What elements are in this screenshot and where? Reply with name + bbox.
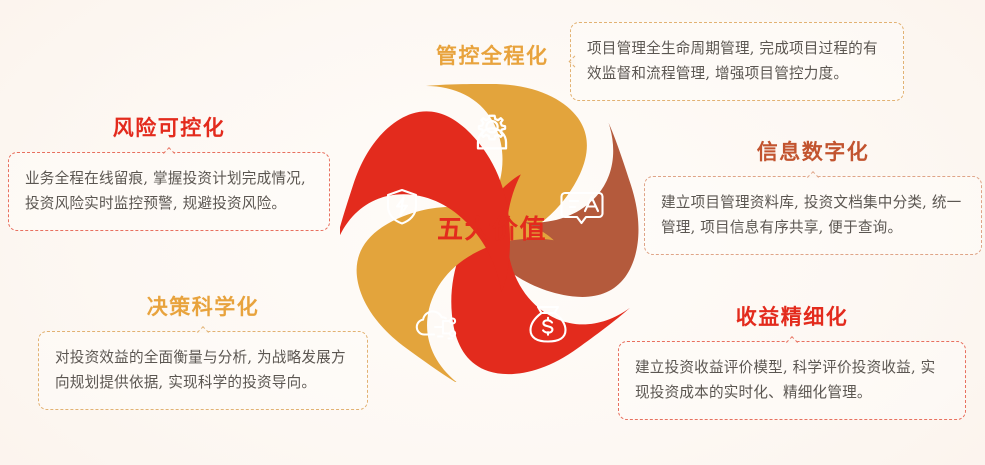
section-xinxi-bubble: 建立项目管理资料库, 投资文档集中分类, 统一管理, 项目信息有序共享, 便于查… (644, 176, 982, 255)
section-fengxian: 风险可控化 业务全程在线留痕, 掌握投资计划完成情况, 投资风险实时监控预警, … (8, 118, 330, 231)
bubble-notch (194, 324, 212, 333)
center-label: 五大价值 (437, 215, 547, 245)
section-shouyi-bubble: 建立投资收益评价模型, 科学评价投资收益, 实现投资成本的实时化、精细化管理。 (618, 341, 966, 420)
five-values-pinwheel: 五大价值 (340, 78, 644, 382)
bubble-notch (783, 334, 801, 343)
section-guankong: 管控全程化 项目管理全生命周期管理, 完成项目过程的有效监督和流程管理, 增强项… (434, 46, 904, 67)
section-xinxi-body: 建立项目管理资料库, 投资文档集中分类, 统一管理, 项目信息有序共享, 便于查… (661, 190, 965, 240)
section-shouyi: 收益精细化 建立投资收益评价模型, 科学评价投资收益, 实现投资成本的实时化、精… (618, 307, 966, 420)
section-juece-bubble: 对投资效益的全面衡量与分析, 为战略发展方向规划提供依据, 实现科学的投资导向。 (38, 331, 368, 410)
section-juece-title: 决策科学化 (38, 297, 368, 318)
section-fengxian-title: 风险可控化 (8, 118, 330, 139)
section-juece-body: 对投资效益的全面衡量与分析, 为战略发展方向规划提供依据, 实现科学的投资导向。 (55, 345, 351, 395)
bubble-notch (160, 145, 178, 154)
bubble-notch (804, 169, 822, 178)
section-shouyi-body: 建立投资收益评价模型, 科学评价投资收益, 实现投资成本的实时化、精细化管理。 (635, 355, 949, 405)
section-guankong-bubble: 项目管理全生命周期管理, 完成项目过程的有效监督和流程管理, 增强项目管控力度。 (570, 22, 904, 101)
section-xinxi: 信息数字化 建立项目管理资料库, 投资文档集中分类, 统一管理, 项目信息有序共… (644, 142, 982, 255)
section-xinxi-title: 信息数字化 (644, 142, 982, 163)
bubble-notch (567, 53, 576, 71)
section-shouyi-title: 收益精细化 (618, 307, 966, 328)
section-juece: 决策科学化 对投资效益的全面衡量与分析, 为战略发展方向规划提供依据, 实现科学… (38, 297, 368, 410)
section-fengxian-body: 业务全程在线留痕, 掌握投资计划完成情况, 投资风险实时监控预警, 规避投资风险… (25, 166, 313, 216)
infographic-canvas: 五大价值 管控全程化 项目管理全生命周期管理, 完成项目过程的有效监督和流程管理… (0, 0, 985, 465)
section-guankong-body: 项目管理全生命周期管理, 完成项目过程的有效监督和流程管理, 增强项目管控力度。 (587, 36, 887, 86)
section-fengxian-bubble: 业务全程在线留痕, 掌握投资计划完成情况, 投资风险实时监控预警, 规避投资风险… (8, 152, 330, 231)
